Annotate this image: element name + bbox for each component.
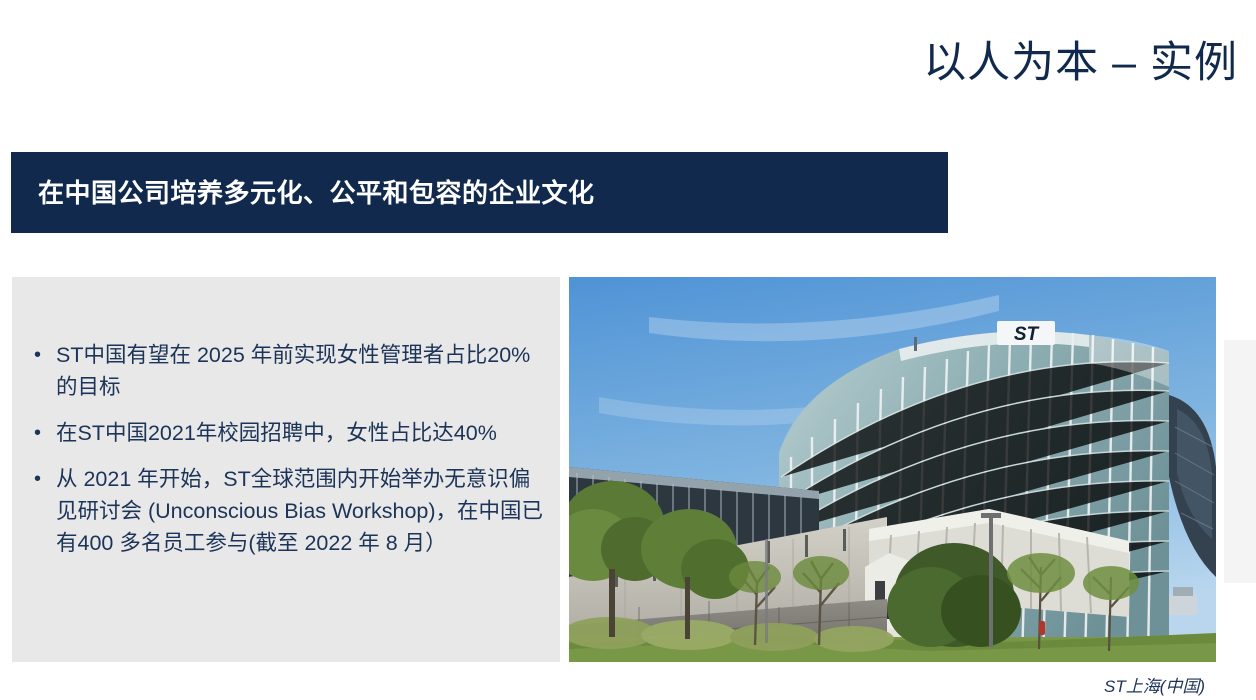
building-photo: ST bbox=[569, 277, 1216, 662]
bullet-list: • ST中国有望在 2025 年前实现女性管理者占比20%的目标 • 在ST中国… bbox=[28, 339, 546, 573]
bullet-text: 在ST中国2021年校园招聘中，女性占比达40% bbox=[56, 417, 546, 449]
section-banner-heading: 在中国公司培养多元化、公平和包容的企业文化 bbox=[11, 178, 595, 208]
right-edge-panel bbox=[1224, 340, 1256, 583]
slide-canvas: 以人为本 – 实例 在中国公司培养多元化、公平和包容的企业文化 • ST中国有望… bbox=[0, 0, 1256, 700]
bullet-text: ST中国有望在 2025 年前实现女性管理者占比20%的目标 bbox=[56, 339, 546, 403]
building-photo-illustration: ST bbox=[569, 277, 1216, 662]
bullet-point-icon: • bbox=[28, 417, 56, 449]
svg-text:ST: ST bbox=[1014, 324, 1040, 345]
st-logo-icon: ST bbox=[997, 321, 1055, 345]
list-item: • ST中国有望在 2025 年前实现女性管理者占比20%的目标 bbox=[28, 339, 546, 403]
photo-caption: ST上海(中国) bbox=[1104, 672, 1205, 697]
page-title: 以人为本 – 实例 bbox=[923, 36, 1238, 90]
bullet-text: 从 2021 年开始，ST全球范围内开始举办无意识偏见研讨会 (Unconsci… bbox=[56, 463, 546, 559]
content-panel: • ST中国有望在 2025 年前实现女性管理者占比20%的目标 • 在ST中国… bbox=[12, 277, 560, 662]
section-banner: 在中国公司培养多元化、公平和包容的企业文化 bbox=[11, 152, 948, 233]
bullet-point-icon: • bbox=[28, 463, 56, 495]
list-item: • 从 2021 年开始，ST全球范围内开始举办无意识偏见研讨会 (Uncons… bbox=[28, 463, 546, 559]
list-item: • 在ST中国2021年校园招聘中，女性占比达40% bbox=[28, 417, 546, 449]
bullet-point-icon: • bbox=[28, 339, 56, 371]
